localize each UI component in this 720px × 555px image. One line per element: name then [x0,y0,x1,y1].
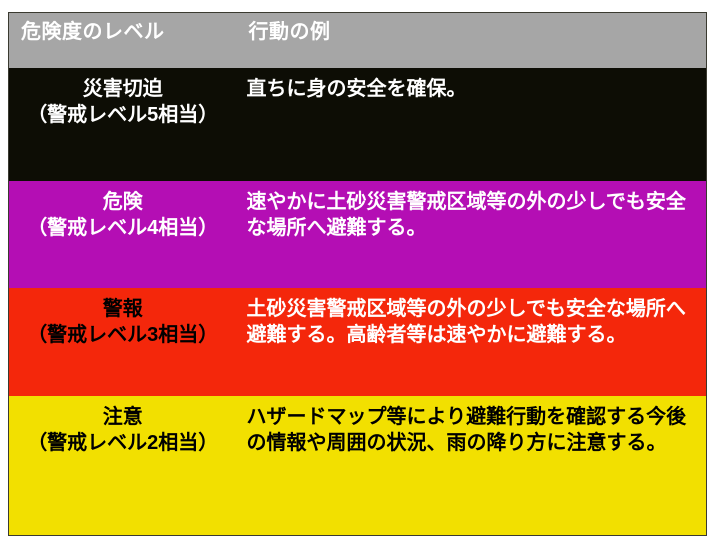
action-cell-level4: 速やかに土砂災害警戒区域等の外の少しでも安全な場所へ避難する。 [237,181,707,288]
level-name-level5: 災害切迫 [15,76,231,102]
header-action-example: 行動の例 [237,13,707,68]
action-cell-level5: 直ちに身の安全を確保。 [237,68,707,181]
level-name-level4: 危険 [15,189,231,215]
table-row-level5: 災害切迫 （警戒レベル5相当） 直ちに身の安全を確保。 [9,68,707,181]
level-cell-level3: 警報 （警戒レベル3相当） [9,288,237,396]
risk-level-action-table: 危険度のレベル 行動の例 災害切迫 （警戒レベル5相当） 直ちに身の安全を確保。… [8,12,707,536]
level-sub-level3: （警戒レベル3相当） [15,322,231,348]
level-cell-level5: 災害切迫 （警戒レベル5相当） [9,68,237,181]
level-name-level2: 注意 [15,404,231,430]
level-cell-level4: 危険 （警戒レベル4相当） [9,181,237,288]
level-sub-level2: （警戒レベル2相当） [15,430,231,456]
level-cell-level2: 注意 （警戒レベル2相当） [9,396,237,536]
table-row-level4: 危険 （警戒レベル4相当） 速やかに土砂災害警戒区域等の外の少しでも安全な場所へ… [9,181,707,288]
level-sub-level4: （警戒レベル4相当） [15,215,231,241]
table-row-level3: 警報 （警戒レベル3相当） 土砂災害警戒区域等の外の少しでも安全な場所へ避難する… [9,288,707,396]
level-sub-level5: （警戒レベル5相当） [15,102,231,128]
table-row-level2: 注意 （警戒レベル2相当） ハザードマップ等により避難行動を確認する今後の情報や… [9,396,707,536]
header-risk-level: 危険度のレベル [9,13,237,68]
action-cell-level2: ハザードマップ等により避難行動を確認する今後の情報や周囲の状況、雨の降り方に注意… [237,396,707,536]
action-cell-level3: 土砂災害警戒区域等の外の少しでも安全な場所へ避難する。高齢者等は速やかに避難する… [237,288,707,396]
table-header-row: 危険度のレベル 行動の例 [9,13,707,68]
level-name-level3: 警報 [15,296,231,322]
